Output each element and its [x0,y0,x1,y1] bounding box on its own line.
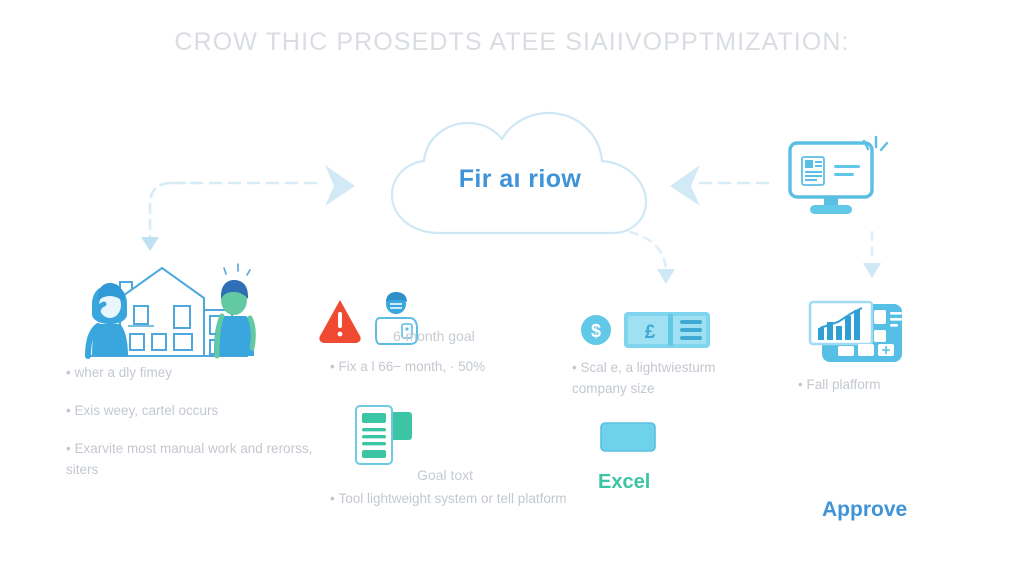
arrow-down-from-monitor [863,232,881,278]
pound-banknote-icon: £ [624,312,710,348]
svg-text:£: £ [645,322,656,343]
list-item-text: Fall plafform [806,377,880,392]
dollar-coin-icon: $ [581,315,611,345]
list-item-text: Exarvite most manual work and rerorss, s… [66,441,312,477]
approve-label: Approve [822,498,1002,522]
person-woman-icon [88,283,128,356]
sparkle-icon [224,264,250,275]
excel-label: Excel [598,471,718,494]
list-item: • wher a dly fimey [66,363,316,384]
col3-icon-group: $ £ [580,305,730,355]
col4-bullet: • Fall plafform [798,375,978,396]
document-checklist-icon [352,404,430,466]
infographic-canvas: CROW THIC PROSEDTS ATEE SIAIIVOPPTMIZATI… [0,0,1024,585]
list-item-text: Tool lightweight system or tell platform [338,491,566,506]
list-item: • Exarvite most manual work and rerorss,… [66,439,316,481]
arrow-left-from-monitor [670,165,775,206]
svg-text:$: $ [591,321,601,341]
col2-label-goal: 6-month goal [393,328,475,344]
list-item-text: wher a dly fimey [74,365,172,380]
col2-label-goaltext: Goal toxt [417,467,473,483]
list-item-text: Fix a l 66− month, · 50% [338,359,485,374]
col2-icon-group [318,292,488,354]
cloud-shape: Fir aı riow [370,105,670,250]
arrow-right-to-cloud [172,165,355,206]
col2-bullet-b: • Tool lightweight system or tell platfo… [330,489,570,510]
col3-bullet: • Scal e, a lightwiesturm company size [572,358,772,400]
dashboard-barchart-icon [808,300,908,370]
warning-triangle-icon [319,300,360,343]
people-and-house-illustration [62,258,262,368]
list-item: • Exis weey, cartel occurs [66,401,316,422]
col1-bullets: • wher a dly fimey • Exis weey, cartel o… [66,363,316,498]
screen-document-icon [802,157,824,185]
list-item-text: Scal e, a lightwiesturm company size [572,360,716,396]
excel-box-icon [598,420,658,454]
col2-bullet-a: • Fix a l 66− month, · 50% [330,357,560,378]
cloud-label: Fir aı riow [370,165,670,194]
list-item-text: Exis weey, cartel occurs [74,403,218,418]
monitor-document-icon [788,135,890,221]
arrow-left-down-to-people [141,183,200,251]
